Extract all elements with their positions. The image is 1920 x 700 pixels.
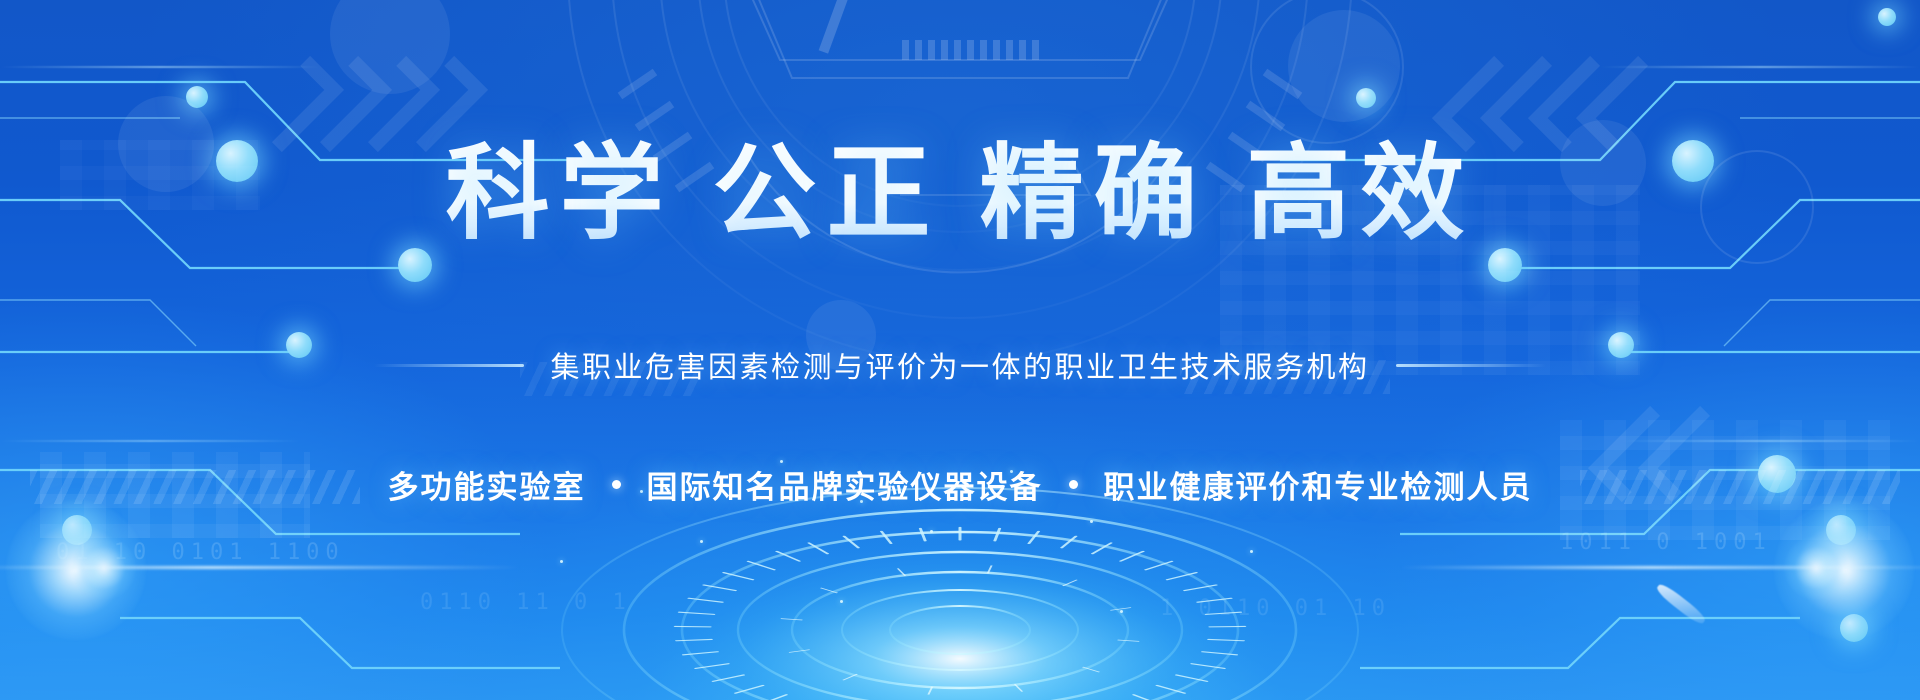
- circuit-node: [1826, 515, 1856, 545]
- particle: [930, 530, 933, 533]
- circuit-node: [1356, 88, 1376, 108]
- particle: [840, 600, 843, 603]
- lens-flare-left-small: [72, 536, 136, 600]
- feature-item-1: 多功能实验室: [388, 462, 586, 507]
- particle: [560, 560, 563, 563]
- circuit-node: [186, 86, 208, 108]
- feature-item-3: 职业健康评价和专业检测人员: [1104, 462, 1533, 507]
- decor-circle: [1288, 10, 1400, 122]
- binary-code-text: 01 10 0101 1100: [56, 540, 345, 565]
- bullet-separator-icon: [1069, 480, 1078, 489]
- binary-code-text: 1 0110 01 10: [1160, 596, 1391, 621]
- feature-item-2: 国际知名品牌实验仪器设备: [647, 462, 1043, 507]
- page-title: 科学 公正 精确 高效: [0, 138, 1920, 250]
- circuit-node: [1840, 614, 1868, 642]
- particle: [1120, 610, 1123, 613]
- binary-code-text: 0110 11 0 1: [420, 590, 632, 615]
- bullet-separator-icon: [612, 480, 621, 489]
- circuit-node: [398, 248, 432, 282]
- lens-flare-right: [1774, 500, 1914, 640]
- hero-banner: 01 10 0101 1100 1011 0 1001 0110 11 0 1 …: [0, 0, 1920, 700]
- particle: [1250, 550, 1253, 553]
- sheen-line: [1620, 440, 1920, 442]
- lens-flare-streak-left: [0, 566, 520, 569]
- feature-list: 多功能实验室 国际知名品牌实验仪器设备 职业健康评价和专业检测人员: [0, 462, 1920, 507]
- lens-flare-left: [6, 500, 146, 640]
- sheen-line: [0, 66, 320, 68]
- lens-flare-right-small: [1784, 536, 1848, 600]
- particle: [1090, 520, 1093, 523]
- particle: [700, 540, 703, 543]
- circuit-node: [62, 515, 92, 545]
- divider-right: [1396, 364, 1546, 367]
- circuit-node: [1488, 248, 1522, 282]
- sheen-line: [1600, 66, 1920, 68]
- decor-circle: [330, 0, 450, 94]
- shard-highlight: [1654, 581, 1707, 626]
- decor-ring: [1250, 0, 1404, 144]
- binary-code-text: 1011 0 1001: [1560, 530, 1772, 555]
- divider-left: [374, 364, 524, 367]
- subtitle-row: 集职业危害因素检测与评价为一体的职业卫生技术服务机构: [0, 344, 1920, 386]
- circuit-node: [1878, 8, 1896, 26]
- sheen-line: [0, 440, 300, 442]
- subtitle: 集职业危害因素检测与评价为一体的职业卫生技术服务机构: [550, 344, 1369, 386]
- lens-flare-streak-right: [1400, 566, 1920, 569]
